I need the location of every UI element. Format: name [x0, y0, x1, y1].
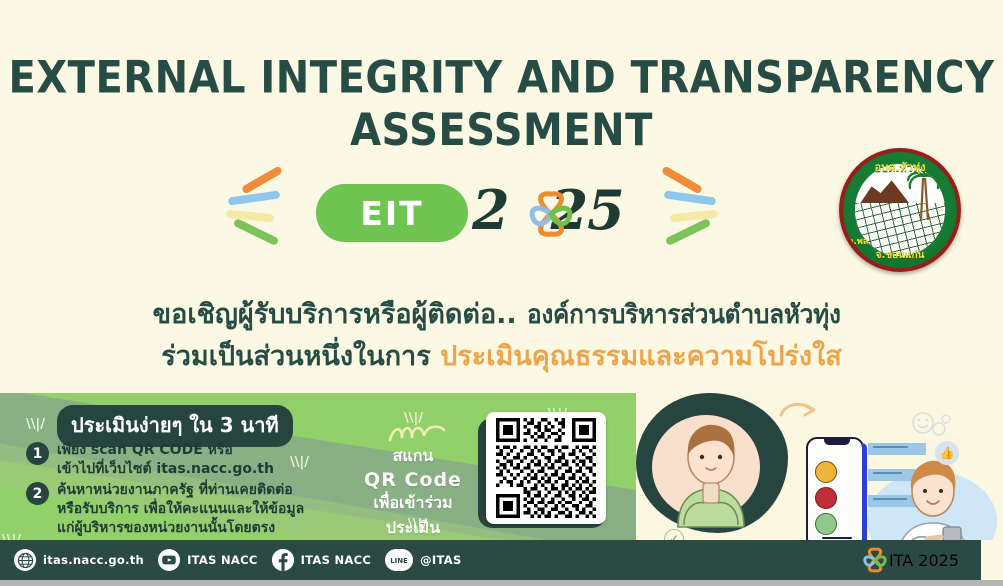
- page-title-line-2: ASSESSMENT: [0, 105, 1003, 158]
- smiley-outline-icon: [909, 411, 951, 441]
- footer-right-padding: [981, 540, 1003, 580]
- steps-list: 1 เพียง scan QR CODE หรือ เข้าไปที่เว็บไ…: [26, 441, 346, 540]
- bottom-strip: [0, 580, 1003, 586]
- year-prefix: 2: [472, 178, 509, 242]
- organization-seal: อบต.หัวทุ่ง อ.พล จ.ขอนแก่น: [839, 148, 961, 272]
- ita-flower-icon: [527, 188, 575, 240]
- footer-label: itas.nacc.go.th: [43, 553, 144, 567]
- sunburst-rays-left-icon: [224, 176, 286, 252]
- svg-text:LINE: LINE: [390, 557, 408, 565]
- step-text-line: เข้าไปที่เว็บไซต์ itas.nacc.go.th: [57, 460, 274, 479]
- footer-brand-label: ITA 2025: [889, 551, 959, 570]
- line-icon: LINE: [385, 549, 413, 571]
- invite-org-name: องค์การบริหารส่วนตำบลหัวทุ่ง: [527, 294, 841, 335]
- phone-shadow: [862, 443, 867, 547]
- seal-left-text: อ.พล: [848, 234, 868, 248]
- step-text: เพียง scan QR CODE หรือ เข้าไปที่เว็บไซต…: [57, 441, 274, 479]
- step-text-line: หรือรับบริการ เพื่อให้คะแนนและให้ข้อมูล: [57, 500, 304, 519]
- page-title: EXTERNAL INTEGRITY AND TRANSPARENCY ASSE…: [0, 52, 1003, 157]
- globe-icon: [14, 549, 36, 571]
- youtube-icon: [158, 549, 180, 571]
- step-text-line: เพียง scan QR CODE หรือ: [57, 441, 274, 460]
- woman-holding-phone-illustration: [670, 419, 752, 529]
- footer-label: ITAS NACC: [301, 553, 372, 567]
- qr-code-card[interactable]: [486, 412, 606, 524]
- footer-item-facebook[interactable]: ITAS NACC: [272, 549, 372, 571]
- facebook-icon: [272, 549, 294, 571]
- poster-canvas: EXTERNAL INTEGRITY AND TRANSPARENCY ASSE…: [0, 0, 1003, 586]
- step-item: 1 เพียง scan QR CODE หรือ เข้าไปที่เว็บไ…: [26, 441, 346, 479]
- phone-home-indicator: [822, 537, 852, 540]
- step-text-line: ค้นหาหน่วยงานภาครัฐ ที่ท่านเคยติดต่อ: [57, 481, 304, 500]
- step-number: 1: [26, 442, 49, 465]
- sparkle-icon: \\|/: [26, 417, 45, 432]
- eit-badge: EIT: [316, 184, 468, 242]
- step-item: 2 ค้นหาหน่วยงานภาครัฐ ที่ท่านเคยติดต่อ ห…: [26, 481, 346, 538]
- sunburst-rays-right-icon: [658, 176, 720, 252]
- curved-arrow-icon: [778, 399, 820, 419]
- thumbs-up-icon: 👍: [935, 441, 959, 465]
- rating-bar: [868, 443, 926, 455]
- scan-instruction: สแกน QR Code เพื่อเข้าร่วมประเมิน: [348, 444, 478, 541]
- seal-inner: [855, 164, 945, 256]
- step-number: 2: [26, 482, 49, 505]
- eit-badge-label: EIT: [360, 194, 423, 233]
- page-title-line-1: EXTERNAL INTEGRITY AND TRANSPARENCY: [9, 52, 995, 104]
- footer-item-youtube[interactable]: ITAS NACC: [158, 549, 258, 571]
- seal-palm-tree-icon: [907, 168, 941, 222]
- neutral-face-icon: [815, 513, 837, 535]
- qr-code-frame: [478, 418, 606, 528]
- footer-item-website[interactable]: itas.nacc.go.th: [14, 549, 144, 571]
- phone-notch: [824, 439, 850, 445]
- squiggle-decoration-icon: [388, 422, 448, 446]
- scan-line-3: เพื่อเข้าร่วมประเมิน: [348, 491, 478, 541]
- invite-highlight: ประเมินคุณธรรมและความโปร่งใส: [440, 341, 842, 372]
- seal-bottom-text: จ.ขอนแก่น: [843, 248, 957, 263]
- footer-label: ITAS NACC: [187, 553, 258, 567]
- footer-bar: itas.nacc.go.th ITAS NACC ITAS NACC: [0, 540, 981, 580]
- invite-line-1-prefix: ขอเชิญผู้รับบริการหรือผู้ติดต่อ..: [153, 299, 517, 330]
- smartphone-rating-screen: [806, 437, 864, 549]
- scan-line-2: QR Code: [348, 469, 478, 491]
- eit-logo-row: EIT 225: [222, 168, 722, 260]
- scan-line-1: สแกน: [348, 444, 478, 469]
- ita-flower-icon: [861, 546, 889, 574]
- invite-line-2: ร่วมเป็นส่วนหนึ่งในการ ประเมินคุณธรรมและ…: [0, 334, 1003, 377]
- invite-line-2-prefix: ร่วมเป็นส่วนหนึ่งในการ: [161, 341, 440, 372]
- footer-brand: ITA 2025: [861, 546, 959, 574]
- invite-line-1: ขอเชิญผู้รับบริการหรือผู้ติดต่อ..องค์การ…: [0, 292, 1003, 335]
- angry-face-icon: [815, 487, 837, 509]
- step-text-line: แก่ผู้บริหารของหน่วยงานนั้นโดยตรง: [57, 519, 304, 538]
- footer-item-line[interactable]: LINE @ITAS: [385, 549, 461, 571]
- step-text: ค้นหาหน่วยงานภาครัฐ ที่ท่านเคยติดต่อ หรื…: [57, 481, 304, 538]
- footer-label: @ITAS: [420, 553, 461, 567]
- seal-top-text: อบต.หัวทุ่ง: [843, 158, 957, 176]
- happy-face-icon: [815, 461, 837, 483]
- qr-code-icon[interactable]: [496, 418, 596, 518]
